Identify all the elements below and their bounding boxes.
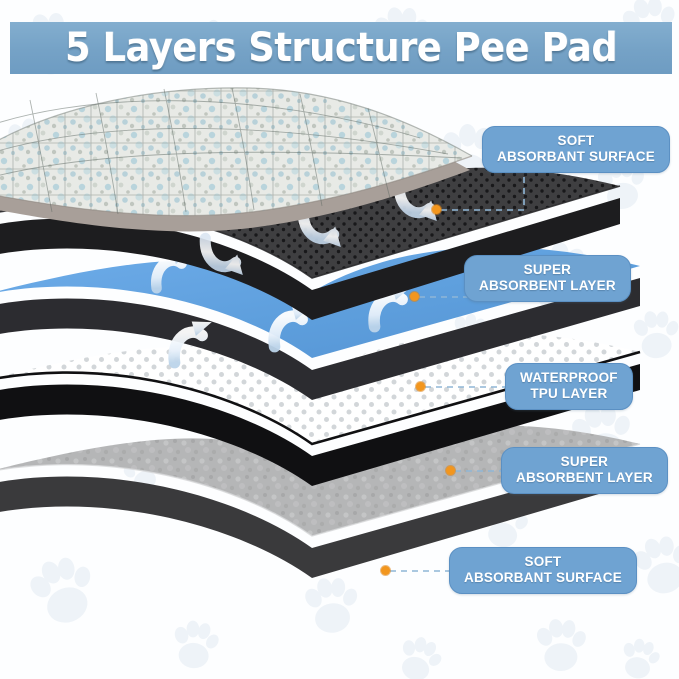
connector-dot-4: [446, 466, 455, 475]
callout-line-2: ABSORBANT SURFACE: [464, 570, 622, 586]
connector-dot-3: [416, 382, 425, 391]
callout-line-1: SUPER: [479, 262, 616, 278]
callout-line-2: ABSORBENT LAYER: [479, 278, 616, 294]
callout-soft-absorbant-surface-bottom[interactable]: SOFT ABSORBANT SURFACE: [449, 547, 637, 594]
callout-line-2: ABSORBENT LAYER: [516, 470, 653, 486]
callout-line-1: WATERPROOF: [520, 370, 618, 386]
callout-line-1: SOFT: [497, 133, 655, 149]
callout-line-2: TPU LAYER: [520, 386, 618, 402]
callout-line-1: SUPER: [516, 454, 653, 470]
callout-soft-absorbant-surface-top[interactable]: SOFT ABSORBANT SURFACE: [482, 126, 670, 173]
callout-line-1: SOFT: [464, 554, 622, 570]
callout-line-2: ABSORBANT SURFACE: [497, 149, 655, 165]
connector-dot-1: [432, 205, 441, 214]
callout-super-absorbent-layer-upper[interactable]: SUPER ABSORBENT LAYER: [464, 255, 631, 302]
header-banner: 5 Layers Structure Pee Pad: [10, 22, 672, 74]
callout-super-absorbent-layer-lower[interactable]: SUPER ABSORBENT LAYER: [501, 447, 668, 494]
callout-waterproof-tpu-layer[interactable]: WATERPROOF TPU LAYER: [505, 363, 633, 410]
connector-dot-2: [410, 292, 419, 301]
page-title: 5 Layers Structure Pee Pad: [65, 28, 617, 68]
connector-dot-5: [381, 566, 390, 575]
infographic-canvas: 5 Layers Structure Pee Pad: [0, 0, 679, 679]
